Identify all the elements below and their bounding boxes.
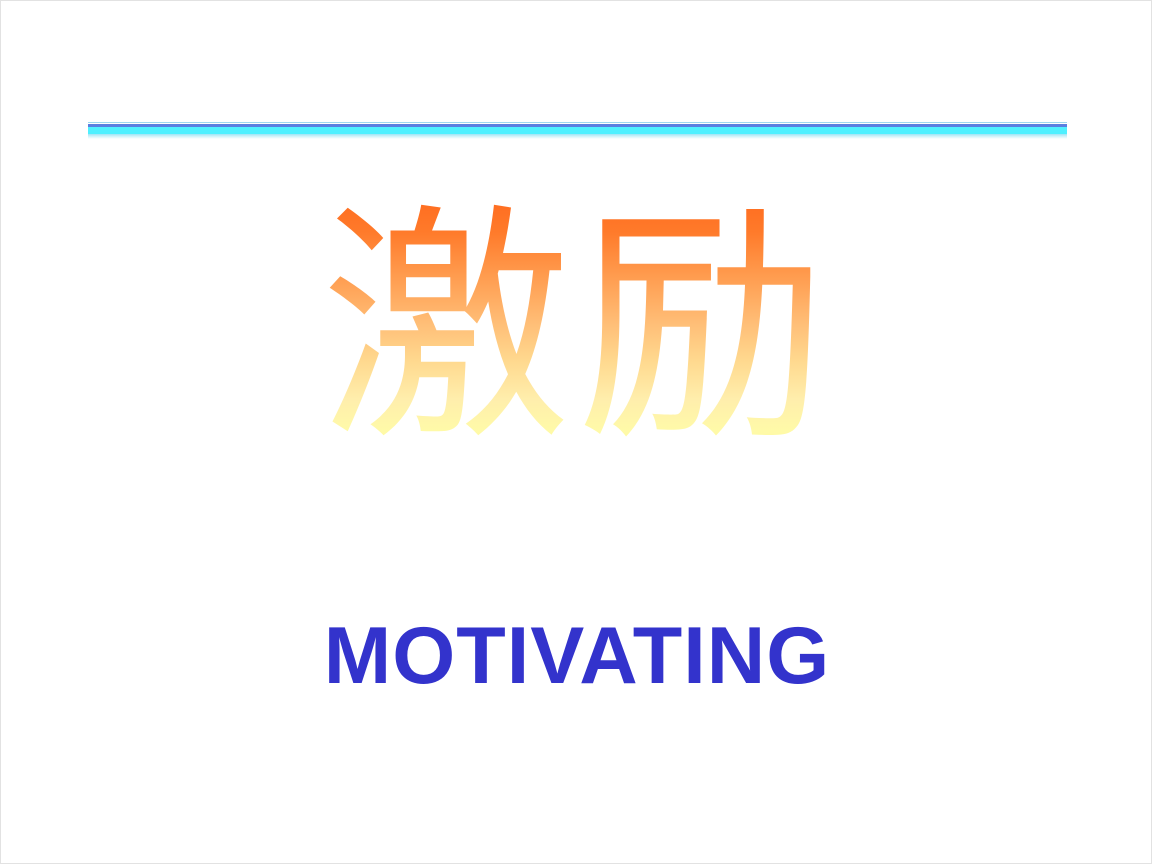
rule-fade-band: [88, 134, 1067, 139]
rule-cyan-band: [88, 127, 1067, 134]
slide-title-english: MOTIVATING: [1, 609, 1152, 704]
presentation-slide: 激励 MOTIVATING: [0, 0, 1152, 864]
horizontal-accent-rule: [88, 120, 1067, 140]
rule-hairline: [88, 122, 1067, 123]
slide-title-chinese: 激励: [1, 194, 1152, 464]
